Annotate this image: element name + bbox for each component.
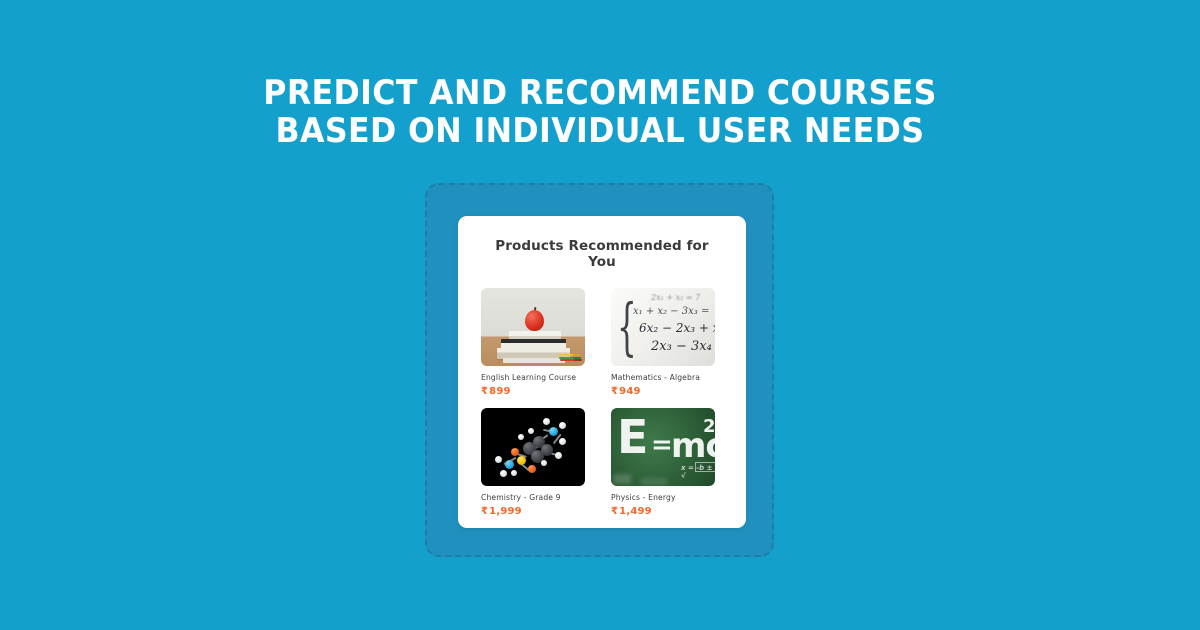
molecular-model-photo[interactable] <box>481 408 585 486</box>
oxygen-atom <box>511 448 519 456</box>
equation-line-1: 2x₁ + x₂ = 7 <box>651 293 715 302</box>
carbon-atom <box>541 444 553 456</box>
product-name: English Learning Course <box>481 373 585 382</box>
rupee-icon: ₹ <box>611 386 618 397</box>
hydrogen-atom <box>511 470 517 476</box>
rupee-icon: ₹ <box>481 386 488 397</box>
rupee-icon: ₹ <box>611 506 618 517</box>
hydrogen-atom <box>559 422 566 429</box>
price-value: 1,499 <box>619 506 652 517</box>
product-price: ₹899 <box>481 386 585 397</box>
equations-group: 2x₁ + x₂ = 7 x₁ + x₂ − 3x₃ = 6x₂ − 2x₃ +… <box>625 293 715 354</box>
product-name: Chemistry - Grade 9 <box>481 493 585 502</box>
hydrogen-atom <box>559 438 566 445</box>
hydrogen-atom <box>528 428 534 434</box>
apple-on-books-photo[interactable] <box>481 288 585 366</box>
price-value: 949 <box>619 386 640 397</box>
formula-exponent: 2 <box>703 418 715 436</box>
hydrogen-atom <box>543 418 550 425</box>
hydrogen-atom <box>495 456 502 463</box>
book-shape-4 <box>503 358 565 363</box>
sulfur-atom <box>517 456 526 465</box>
apple-shape <box>525 310 544 331</box>
equation-line-2: x₁ + x₂ − 3x₃ = <box>633 306 715 317</box>
nitrogen-atom <box>505 460 514 469</box>
product-price: ₹1,999 <box>481 506 585 517</box>
chalk-smudge <box>613 474 631 484</box>
product-card-physics-energy[interactable]: E = mc 2 x = -b ± √ Physics - Energy ₹1,… <box>611 408 715 517</box>
handwritten-algebra-equations-photo[interactable]: { 2x₁ + x₂ = 7 x₁ + x₂ − 3x₃ = 6x₂ − 2x₃… <box>611 288 715 366</box>
annotation-box <box>695 462 715 472</box>
hydrogen-atom <box>541 460 547 466</box>
card-title: Products Recommended for You <box>481 238 723 270</box>
product-card-english-learning-course[interactable]: English Learning Course ₹899 <box>481 288 585 397</box>
chalkboard-formula: E = mc 2 x = -b ± √ <box>615 412 715 470</box>
price-value: 1,999 <box>489 506 522 517</box>
product-name: Physics - Energy <box>611 493 715 502</box>
product-card-chemistry-grade-9[interactable]: Chemistry - Grade 9 ₹1,999 <box>481 408 585 517</box>
price-value: 899 <box>489 386 510 397</box>
chalkboard-emc2-photo[interactable]: E = mc 2 x = -b ± √ <box>611 408 715 486</box>
hydrogen-atom <box>500 470 507 477</box>
product-price: ₹1,499 <box>611 506 715 517</box>
equation-line-3: 6x₂ − 2x₃ + x₄ <box>639 321 715 335</box>
products-grid: English Learning Course ₹899 { 2x₁ + x₂ … <box>481 288 723 517</box>
hydrogen-atom <box>518 434 524 440</box>
product-card-mathematics-algebra[interactable]: { 2x₁ + x₂ = 7 x₁ + x₂ − 3x₃ = 6x₂ − 2x₃… <box>611 288 715 397</box>
page-title: Predict and Recommend Courses Based on I… <box>42 74 1158 150</box>
chalk-smudge <box>641 478 667 486</box>
recommendations-card: Products Recommended for You English Lea… <box>458 216 746 528</box>
equation-line-4: 2x₃ − 3x₄ = <box>651 339 715 354</box>
page-title-line-1: Predict and Recommend Courses <box>263 73 936 113</box>
product-name: Mathematics - Algebra <box>611 373 715 382</box>
page-title-line-2: Based on Individual User Needs <box>42 112 1158 150</box>
nitrogen-atom <box>549 427 558 436</box>
formula-e: E <box>617 414 646 460</box>
colored-pencils-shape <box>558 354 582 361</box>
hydrogen-atom <box>555 452 562 459</box>
rupee-icon: ₹ <box>481 506 488 517</box>
product-price: ₹949 <box>611 386 715 397</box>
formula-equals: = <box>651 432 673 458</box>
dashed-frame: Products Recommended for You English Lea… <box>425 183 774 557</box>
oxygen-atom <box>528 465 536 473</box>
